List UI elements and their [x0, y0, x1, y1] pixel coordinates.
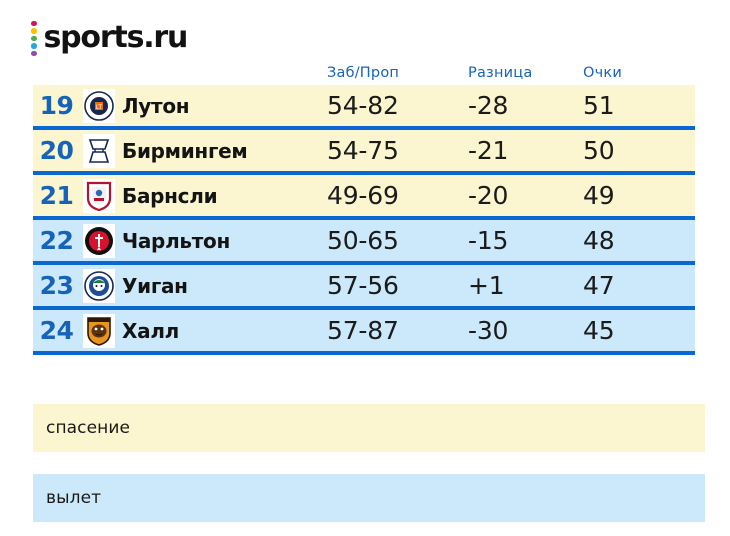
row-diff: -20 [468, 181, 583, 210]
row-rank: 20 [33, 136, 80, 165]
table-header-row: Заб/Проп Разница Очки [33, 55, 695, 85]
row-rank: 22 [33, 226, 80, 255]
row-goals: 49-69 [327, 181, 468, 210]
row-team-name: Барнсли [118, 184, 327, 208]
row-points: 49 [583, 181, 695, 210]
logo-dots-icon [31, 20, 37, 57]
row-rank: 19 [33, 91, 80, 120]
table-row[interactable]: 23 Уиган 57-56 +1 47 [33, 265, 695, 310]
barnsley-crest-icon [80, 179, 118, 213]
site-logo[interactable]: sports.ru [31, 20, 187, 56]
charlton-crest-icon [80, 224, 118, 258]
header-points: Очки [583, 65, 695, 81]
svg-text:LT: LT [96, 104, 103, 111]
row-goals: 57-87 [327, 316, 468, 345]
luton-crest-icon: LT [80, 89, 118, 123]
header-diff: Разница [468, 65, 583, 81]
row-points: 47 [583, 271, 695, 300]
birmingham-crest-icon [80, 134, 118, 168]
table-row[interactable]: 19 LT Лутон 54-82 -28 51 [33, 85, 695, 130]
wigan-crest-icon [80, 269, 118, 303]
row-points: 50 [583, 136, 695, 165]
row-rank: 23 [33, 271, 80, 300]
row-team-name: Халл [118, 319, 327, 343]
row-points: 45 [583, 316, 695, 345]
hull-crest-icon [80, 314, 118, 348]
table-row[interactable]: 22 Чарльтон 50-65 -15 48 [33, 220, 695, 265]
row-diff: -28 [468, 91, 583, 120]
row-rank: 24 [33, 316, 80, 345]
header-goals: Заб/Проп [327, 65, 468, 81]
row-diff: -30 [468, 316, 583, 345]
row-team-name: Чарльтон [118, 229, 327, 253]
standings-table: Заб/Проп Разница Очки 19 LT Лутон 54-82 … [33, 55, 695, 355]
row-team-name: Бирмингем [118, 139, 327, 163]
logo-text: sports.ru [44, 23, 188, 53]
row-goals: 50-65 [327, 226, 468, 255]
row-team-name: Лутон [118, 94, 327, 118]
row-diff: -21 [468, 136, 583, 165]
legend-item-survival: спасение [33, 404, 705, 452]
row-diff: +1 [468, 271, 583, 300]
row-goals: 57-56 [327, 271, 468, 300]
table-row[interactable]: 21 Барнсли 49-69 -20 49 [33, 175, 695, 220]
table-row[interactable]: 24 Халл 57-87 -30 45 [33, 310, 695, 355]
row-points: 51 [583, 91, 695, 120]
legend: спасение вылет [33, 404, 705, 522]
row-points: 48 [583, 226, 695, 255]
row-team-name: Уиган [118, 274, 327, 298]
row-goals: 54-75 [327, 136, 468, 165]
row-rank: 21 [33, 181, 80, 210]
table-row[interactable]: 20 Бирмингем 54-75 -21 50 [33, 130, 695, 175]
row-goals: 54-82 [327, 91, 468, 120]
row-diff: -15 [468, 226, 583, 255]
legend-item-relegation: вылет [33, 474, 705, 522]
